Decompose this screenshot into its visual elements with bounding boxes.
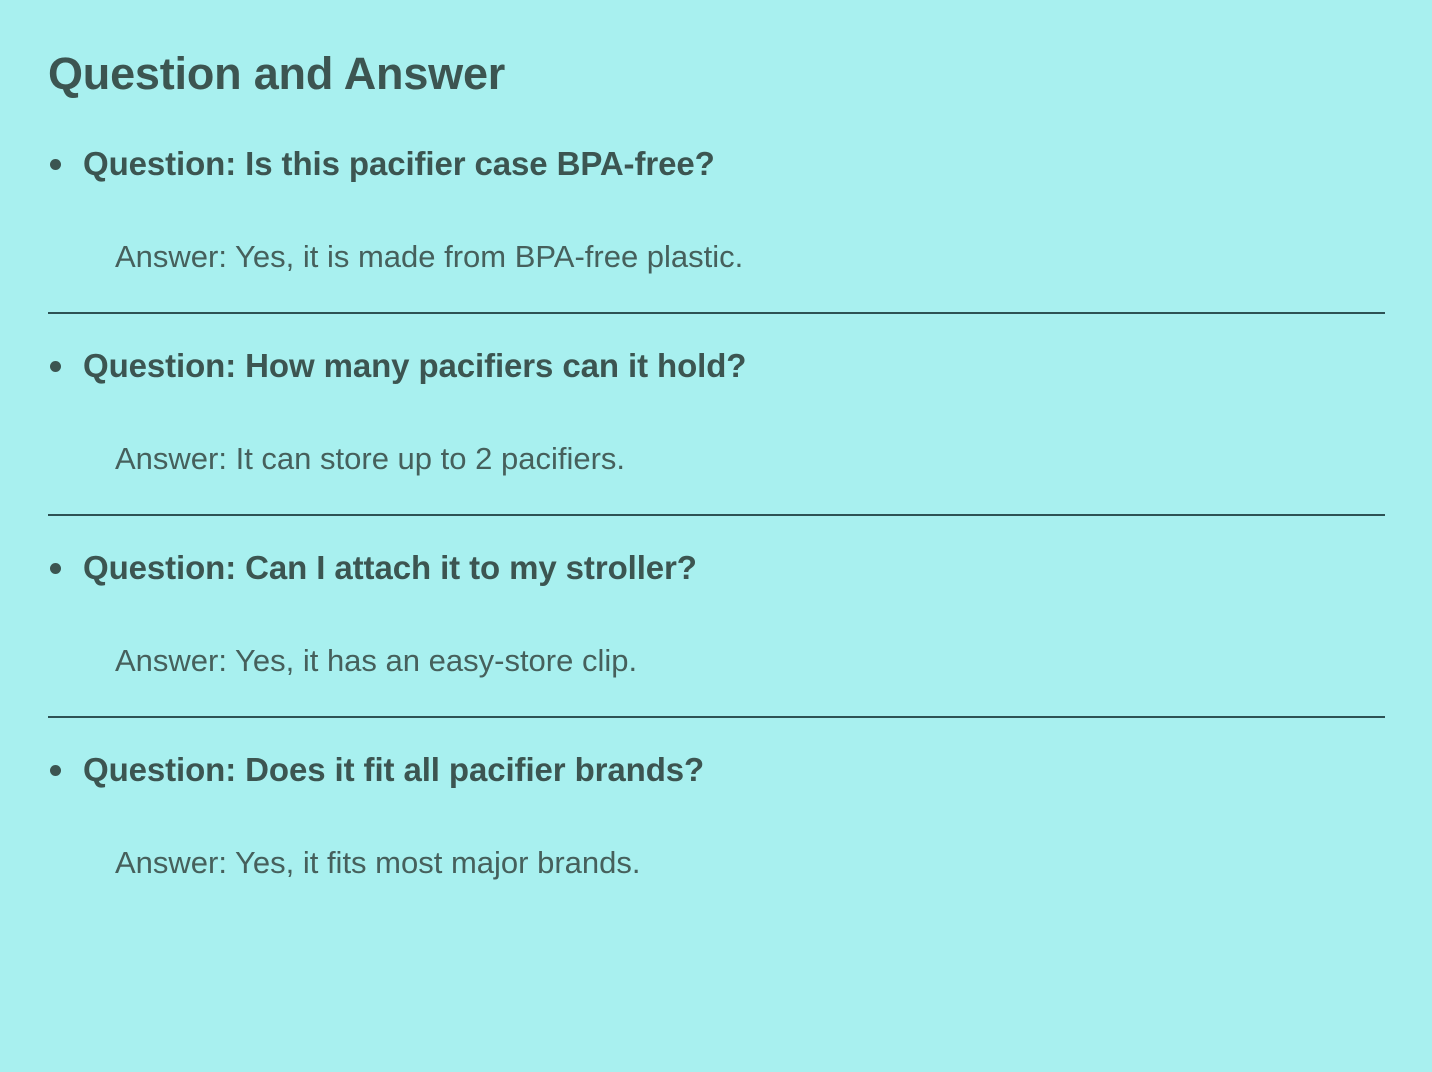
- qa-answer-text: Answer: Yes, it is made from BPA-free pl…: [83, 238, 1385, 276]
- qa-question-text: Question: Is this pacifier case BPA-free…: [83, 144, 1385, 184]
- qa-block: Question: How many pacifiers can it hold…: [48, 346, 1385, 478]
- bullet-dot-icon: [50, 159, 61, 170]
- list-item: Question: How many pacifiers can it hold…: [48, 346, 1385, 516]
- question-and-answer-panel: Question and Answer Question: Is this pa…: [0, 0, 1432, 1072]
- qa-block: Question: Is this pacifier case BPA-free…: [48, 144, 1385, 276]
- qa-block: Question: Does it fit all pacifier brand…: [48, 750, 1385, 882]
- qa-list: Question: Is this pacifier case BPA-free…: [48, 144, 1385, 882]
- list-item: Question: Is this pacifier case BPA-free…: [48, 144, 1385, 314]
- qa-divider: [48, 312, 1385, 314]
- bullet-dot-icon: [50, 765, 61, 776]
- qa-divider: [48, 514, 1385, 516]
- bullet-dot-icon: [50, 361, 61, 372]
- list-item: Question: Does it fit all pacifier brand…: [48, 750, 1385, 882]
- bullet-dot-icon: [50, 563, 61, 574]
- qa-question-text: Question: Does it fit all pacifier brand…: [83, 750, 1385, 790]
- page-title: Question and Answer: [48, 46, 1385, 102]
- qa-question-text: Question: How many pacifiers can it hold…: [83, 346, 1385, 386]
- qa-question-text: Question: Can I attach it to my stroller…: [83, 548, 1385, 588]
- qa-answer-text: Answer: Yes, it has an easy-store clip.: [83, 642, 1385, 680]
- qa-block: Question: Can I attach it to my stroller…: [48, 548, 1385, 680]
- qa-divider: [48, 716, 1385, 718]
- qa-answer-text: Answer: Yes, it fits most major brands.: [83, 844, 1385, 882]
- list-item: Question: Can I attach it to my stroller…: [48, 548, 1385, 718]
- qa-answer-text: Answer: It can store up to 2 pacifiers.: [83, 440, 1385, 478]
